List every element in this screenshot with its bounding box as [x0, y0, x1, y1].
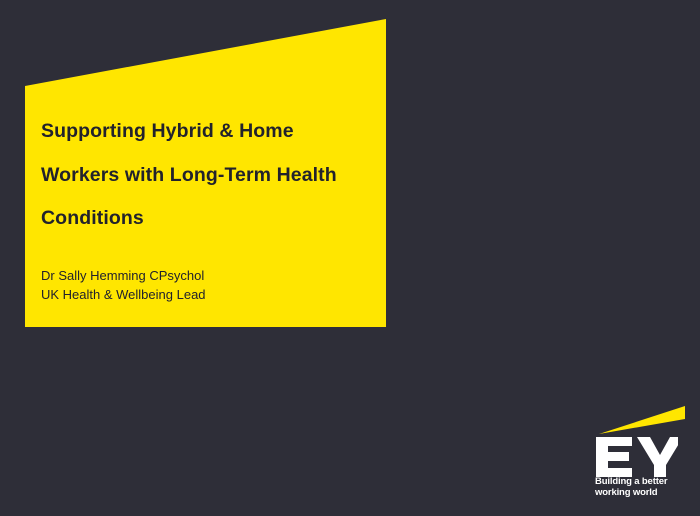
presentation-slide: Supporting Hybrid & Home Workers with Lo… — [0, 0, 700, 516]
ey-tagline-line-1: Building a better — [595, 477, 667, 488]
title-panel: Supporting Hybrid & Home Workers with Lo… — [25, 19, 386, 327]
ey-tagline: Building a better working world — [595, 477, 667, 498]
presenter-name: Dr Sally Hemming CPsychol — [41, 266, 371, 286]
ey-tagline-line-2: working world — [595, 488, 667, 499]
page-title: Supporting Hybrid & Home Workers with Lo… — [41, 110, 371, 241]
title-panel-content: Supporting Hybrid & Home Workers with Lo… — [41, 110, 371, 305]
page-title-line-1: Supporting Hybrid & Home — [41, 110, 371, 154]
ey-wordmark-icon — [594, 436, 678, 478]
ey-beam-icon — [599, 406, 687, 436]
presenter-byline: Dr Sally Hemming CPsychol UK Health & We… — [41, 266, 371, 305]
page-title-line-2: Workers with Long-Term Health — [41, 154, 371, 198]
presenter-role: UK Health & Wellbeing Lead — [41, 285, 371, 305]
page-title-line-3: Conditions — [41, 197, 371, 241]
ey-logo: Building a better working world — [594, 404, 690, 504]
